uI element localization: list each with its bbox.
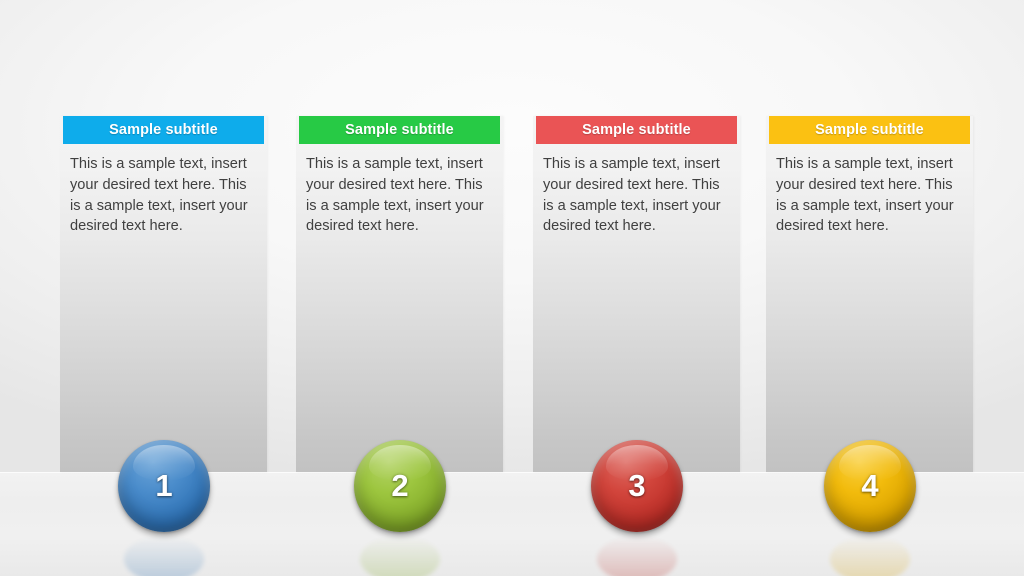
column-2-body-text: This is a sample text, insert your desir… [306, 154, 494, 237]
column-4-number-label: 4 [824, 440, 916, 532]
column-3-number-badge[interactable]: 3 [591, 440, 683, 532]
column-1-sphere-reflection [124, 536, 204, 576]
column-2-sphere-icon: 2 [354, 440, 446, 532]
column-3-number-label: 3 [591, 440, 683, 532]
column-3-sphere-icon: 3 [591, 440, 683, 532]
slide-canvas: Sample subtitle This is a sample text, i… [0, 0, 1024, 576]
column-3-subtitle-bar[interactable]: Sample subtitle [536, 116, 737, 144]
column-1-subtitle-bar[interactable]: Sample subtitle [63, 116, 264, 144]
column-4-sphere-icon: 4 [824, 440, 916, 532]
column-3-sphere-reflection [597, 536, 677, 576]
column-4-number-badge[interactable]: 4 [824, 440, 916, 532]
column-3-body-text: This is a sample text, insert your desir… [543, 154, 731, 237]
column-2-subtitle-bar[interactable]: Sample subtitle [299, 116, 500, 144]
column-1-number-label: 1 [118, 440, 210, 532]
column-2-number-badge[interactable]: 2 [354, 440, 446, 532]
column-2-sphere-reflection [360, 536, 440, 576]
column-2-number-label: 2 [354, 440, 446, 532]
column-4-body-text: This is a sample text, insert your desir… [776, 154, 964, 237]
column-1-body-text: This is a sample text, insert your desir… [70, 154, 258, 237]
column-1-number-badge[interactable]: 1 [118, 440, 210, 532]
column-1-sphere-icon: 1 [118, 440, 210, 532]
column-4-subtitle-bar[interactable]: Sample subtitle [769, 116, 970, 144]
column-4-sphere-reflection [830, 536, 910, 576]
